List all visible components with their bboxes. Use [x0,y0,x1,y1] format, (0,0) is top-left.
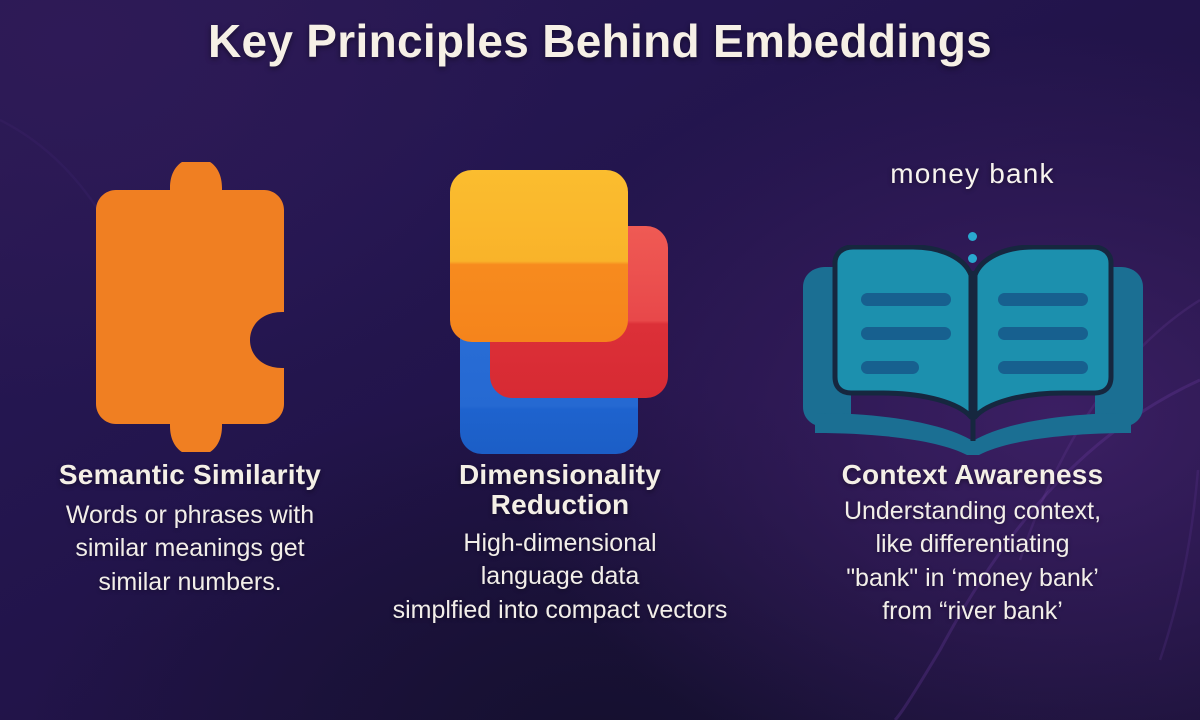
heading-line: Context Awareness [745,460,1200,490]
principle-column-semantic-similarity: Semantic Similarity Words or phrases wit… [0,150,380,710]
body-line: like differentiating [745,528,1200,562]
body-line: similar meanings get [0,532,380,566]
body-line: similar numbers. [0,566,380,600]
column-body: High-dimensional language data simplfied… [360,527,760,628]
principle-column-context-awareness: money bank [745,150,1200,710]
open-book-icon [793,245,1153,460]
page-title: Key Principles Behind Embeddings [0,14,1200,68]
connector-dot [968,232,977,241]
column-heading: Context Awareness [745,460,1200,490]
body-line: High-dimensional [360,527,760,561]
body-line: Understanding context, [745,495,1200,529]
stacked-cards-icon [438,164,682,459]
heading-line: Dimensionality [360,460,760,490]
principle-column-dimensionality-reduction: Dimensionality Reduction High-dimensiona… [360,150,760,710]
body-line: from “river bank’ [745,595,1200,629]
body-line: "bank" in ‘money bank’ [745,562,1200,596]
icon-area [0,150,380,460]
column-heading: Dimensionality Reduction [360,460,760,520]
body-line: Words or phrases with [0,499,380,533]
heading-line: Reduction [360,490,760,520]
body-line: simplfied into compact vectors [360,594,760,628]
column-body: Words or phrases with similar meanings g… [0,499,380,600]
column-heading: Semantic Similarity [0,460,380,490]
body-line: language data [360,560,760,594]
puzzle-piece-icon [78,162,302,452]
book-text-line [861,293,951,306]
infographic-canvas: Key Principles Behind Embeddings Semanti… [0,0,1200,720]
money-bank-label: money bank [745,158,1200,190]
column-body: Understanding context, like differentiat… [745,495,1200,629]
book-text-line [861,327,951,340]
book-text-line [998,327,1088,340]
book-text-line [861,361,919,374]
card-yellow [450,170,628,342]
icon-area: money bank [745,150,1200,460]
heading-line: Semantic Similarity [0,460,380,490]
book-text-line [998,293,1088,306]
icon-area [360,150,760,460]
book-text-line [998,361,1088,374]
